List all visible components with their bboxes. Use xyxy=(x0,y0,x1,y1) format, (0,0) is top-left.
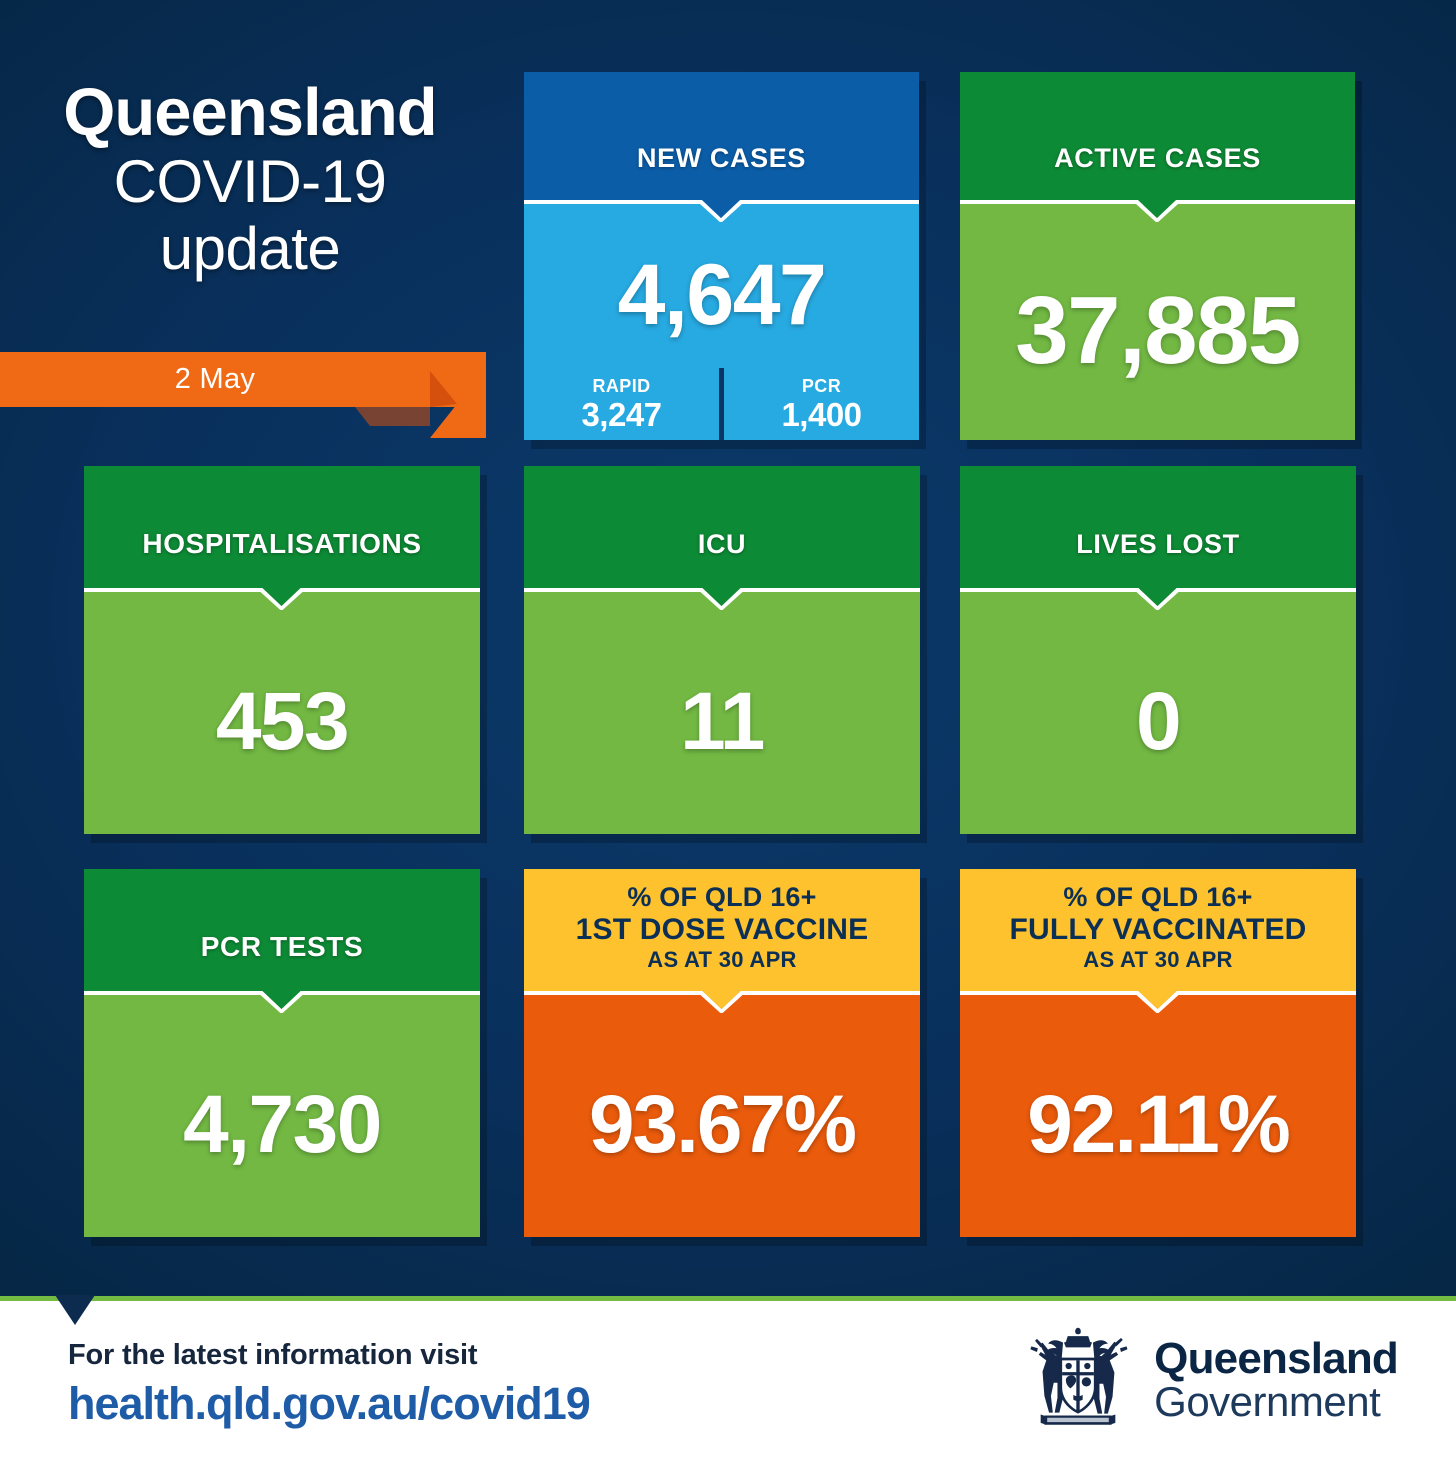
first-dose-title-line1: % OF QLD 16+ xyxy=(627,882,816,913)
card-icu-body: 11 xyxy=(524,610,920,834)
footer-prompt: For the latest information visit xyxy=(68,1338,590,1373)
card-fully-vaccinated-body: 92.11% xyxy=(960,1013,1356,1237)
card-lives-lost-title: LIVES LOST xyxy=(1076,529,1240,560)
card-new-cases-divider xyxy=(524,200,919,222)
card-hospitalisations-body: 453 xyxy=(84,610,480,834)
first-dose-title-line2: 1ST DOSE VACCINE xyxy=(576,913,869,947)
card-active-cases: ACTIVE CASES 37,885 xyxy=(960,72,1355,440)
rapid-label: RAPID xyxy=(592,376,650,397)
card-lives-lost-header: LIVES LOST xyxy=(960,466,1356,588)
pcr-value: 1,400 xyxy=(781,398,861,432)
card-icu-divider xyxy=(524,588,920,610)
new-cases-breakdown: RAPID 3,247 PCR 1,400 xyxy=(524,368,919,440)
coat-of-arms-icon xyxy=(1022,1324,1134,1436)
first-dose-asat-label: AS AT 30 APR xyxy=(647,947,796,973)
card-hospitalisations-divider xyxy=(84,588,480,610)
footer-green-rule xyxy=(0,1296,1456,1301)
fully-vaccinated-title-line2: FULLY VACCINATED xyxy=(1009,913,1306,947)
footer: For the latest information visit health.… xyxy=(0,1296,1456,1466)
card-fully-vaccinated-divider xyxy=(960,991,1356,1013)
card-active-cases-body: 37,885 xyxy=(960,222,1355,440)
card-hospitalisations-value: 453 xyxy=(216,675,348,769)
card-new-cases-body: 4,647 xyxy=(524,222,919,368)
card-lives-lost-value: 0 xyxy=(1136,675,1180,769)
qld-wordmark: Queensland Government xyxy=(1154,1337,1398,1423)
card-pcr-tests-body: 4,730 xyxy=(84,1013,480,1237)
card-icu-value: 11 xyxy=(680,675,764,769)
title-update: update xyxy=(0,215,500,282)
card-pcr-tests: PCR TESTS 4,730 xyxy=(84,869,480,1237)
footer-website-link[interactable]: health.qld.gov.au/covid19 xyxy=(68,1377,590,1432)
card-hospitalisations-title: HOSPITALISATIONS xyxy=(142,528,421,560)
card-icu-title: ICU xyxy=(698,529,746,560)
card-lives-lost-body: 0 xyxy=(960,610,1356,834)
card-lives-lost-divider xyxy=(960,588,1356,610)
card-first-dose-value: 93.67% xyxy=(589,1078,855,1172)
new-cases-pcr: PCR 1,400 xyxy=(724,368,919,440)
poster-title: Queensland COVID-19 update xyxy=(0,78,500,282)
card-first-dose-body: 93.67% xyxy=(524,1013,920,1237)
fully-vaccinated-title-line1: % OF QLD 16+ xyxy=(1063,882,1252,913)
card-fully-vaccinated: % OF QLD 16+ FULLY VACCINATED AS AT 30 A… xyxy=(960,869,1356,1237)
card-first-dose-divider xyxy=(524,991,920,1013)
title-queensland: Queensland xyxy=(0,78,500,148)
card-new-cases-value: 4,647 xyxy=(618,246,826,345)
title-covid19: COVID-19 xyxy=(0,148,500,215)
fully-vaccinated-asat-label: AS AT 30 APR xyxy=(1083,947,1232,973)
card-pcr-tests-divider xyxy=(84,991,480,1013)
card-new-cases-title: NEW CASES xyxy=(637,143,806,174)
logo-government: Government xyxy=(1154,1381,1398,1423)
card-pcr-tests-value: 4,730 xyxy=(183,1078,381,1172)
card-active-cases-value: 37,885 xyxy=(1015,276,1300,386)
card-first-dose-vaccine: % OF QLD 16+ 1ST DOSE VACCINE AS AT 30 A… xyxy=(524,869,920,1237)
card-new-cases-header: NEW CASES xyxy=(524,72,919,200)
queensland-government-logo: Queensland Government xyxy=(1022,1324,1398,1436)
card-lives-lost: LIVES LOST 0 xyxy=(960,466,1356,834)
covid-update-poster: Queensland COVID-19 update 2 May NEW CAS… xyxy=(0,0,1456,1466)
card-icu-header: ICU xyxy=(524,466,920,588)
pcr-label: PCR xyxy=(802,376,841,397)
card-pcr-tests-title: PCR TESTS xyxy=(201,931,364,963)
card-new-cases: NEW CASES 4,647 RAPID 3,247 PCR 1,400 xyxy=(524,72,919,440)
card-hospitalisations-header: HOSPITALISATIONS xyxy=(84,466,480,588)
chevron-down-icon xyxy=(55,1295,95,1325)
card-pcr-tests-header: PCR TESTS xyxy=(84,869,480,991)
card-fully-vaccinated-value: 92.11% xyxy=(1027,1078,1289,1172)
card-active-cases-divider xyxy=(960,200,1355,222)
card-hospitalisations: HOSPITALISATIONS 453 xyxy=(84,466,480,834)
card-active-cases-title: ACTIVE CASES xyxy=(1054,143,1261,174)
new-cases-rapid: RAPID 3,247 xyxy=(524,368,719,440)
card-active-cases-header: ACTIVE CASES xyxy=(960,72,1355,200)
rapid-value: 3,247 xyxy=(581,398,661,432)
date-ribbon: 2 May xyxy=(0,352,486,438)
logo-queensland: Queensland xyxy=(1154,1337,1398,1381)
card-fully-vaccinated-header: % OF QLD 16+ FULLY VACCINATED AS AT 30 A… xyxy=(960,869,1356,991)
ribbon-date-label: 2 May xyxy=(0,352,430,407)
card-icu: ICU 11 xyxy=(524,466,920,834)
card-first-dose-header: % OF QLD 16+ 1ST DOSE VACCINE AS AT 30 A… xyxy=(524,869,920,991)
footer-info: For the latest information visit health.… xyxy=(68,1338,590,1432)
